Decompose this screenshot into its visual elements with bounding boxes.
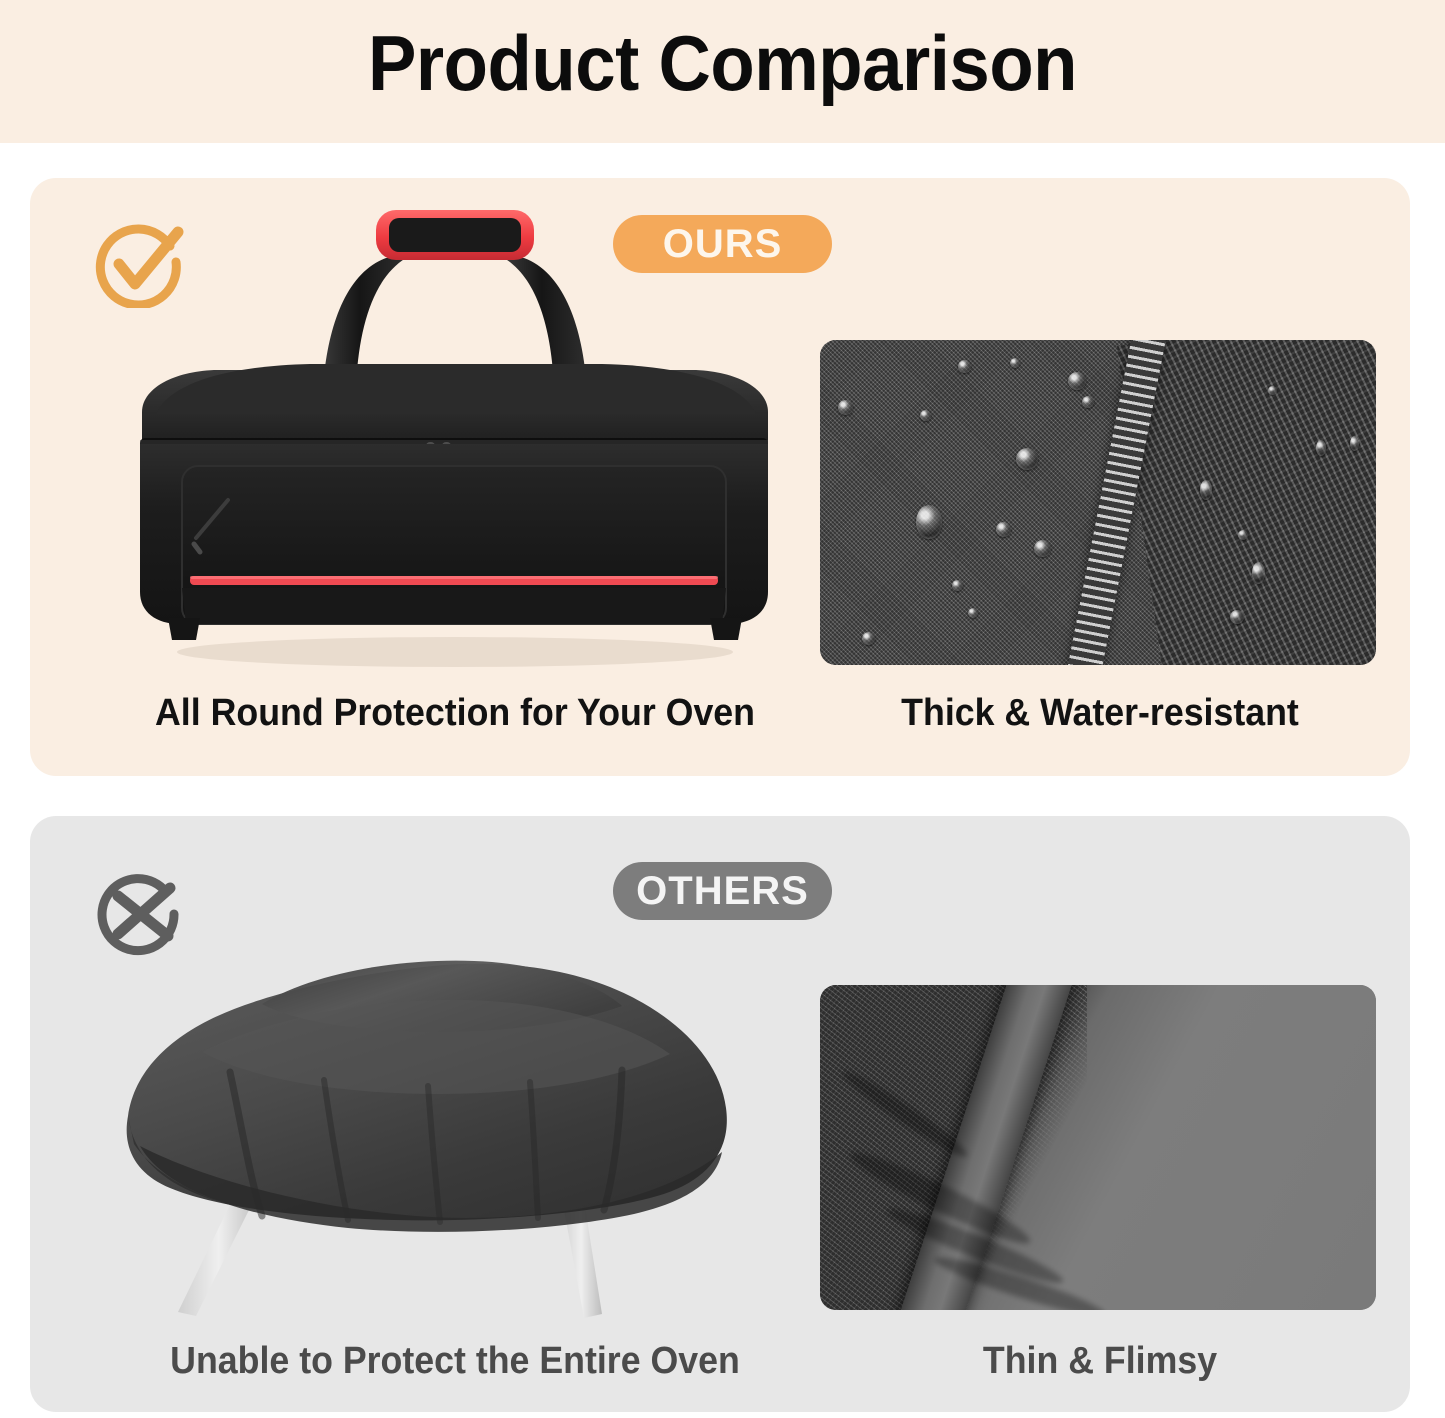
- water-resistant-fabric-closeup-photo: [820, 340, 1376, 665]
- caption-all-round-protection: All Round Protection for Your Oven: [121, 692, 788, 735]
- badge-others: OTHERS: [613, 862, 832, 920]
- water-droplet: [1238, 530, 1248, 540]
- water-droplet: [916, 505, 942, 539]
- water-droplet: [1252, 562, 1265, 584]
- draped-grill-cover-photo: [110, 930, 800, 1330]
- badge-others-label: OTHERS: [636, 869, 809, 914]
- water-droplet: [1068, 372, 1086, 390]
- water-droplet: [1010, 358, 1020, 368]
- page-title: Product Comparison: [51, 18, 1395, 109]
- water-droplet: [1082, 396, 1094, 408]
- water-droplet: [1016, 448, 1038, 470]
- water-droplet: [862, 632, 875, 645]
- water-droplet: [1268, 386, 1277, 395]
- water-droplet: [958, 360, 971, 373]
- water-droplet: [968, 608, 978, 618]
- thin-fabric-closeup-photo: [820, 985, 1376, 1310]
- water-droplet: [1034, 540, 1051, 557]
- caption-thin-flimsy: Thin & Flimsy: [856, 1340, 1345, 1383]
- water-droplet: [996, 522, 1011, 537]
- water-droplet: [1200, 480, 1212, 500]
- water-droplet: [1316, 440, 1326, 456]
- water-droplet: [920, 410, 931, 421]
- water-droplet: [952, 580, 963, 591]
- oven-carrying-bag-photo: [110, 200, 800, 670]
- caption-thick-water-resistant: Thick & Water-resistant: [856, 692, 1345, 735]
- caption-unable-to-protect: Unable to Protect the Entire Oven: [121, 1340, 788, 1383]
- water-droplet: [1230, 610, 1244, 624]
- water-droplet: [838, 400, 853, 415]
- water-droplet: [1350, 436, 1359, 451]
